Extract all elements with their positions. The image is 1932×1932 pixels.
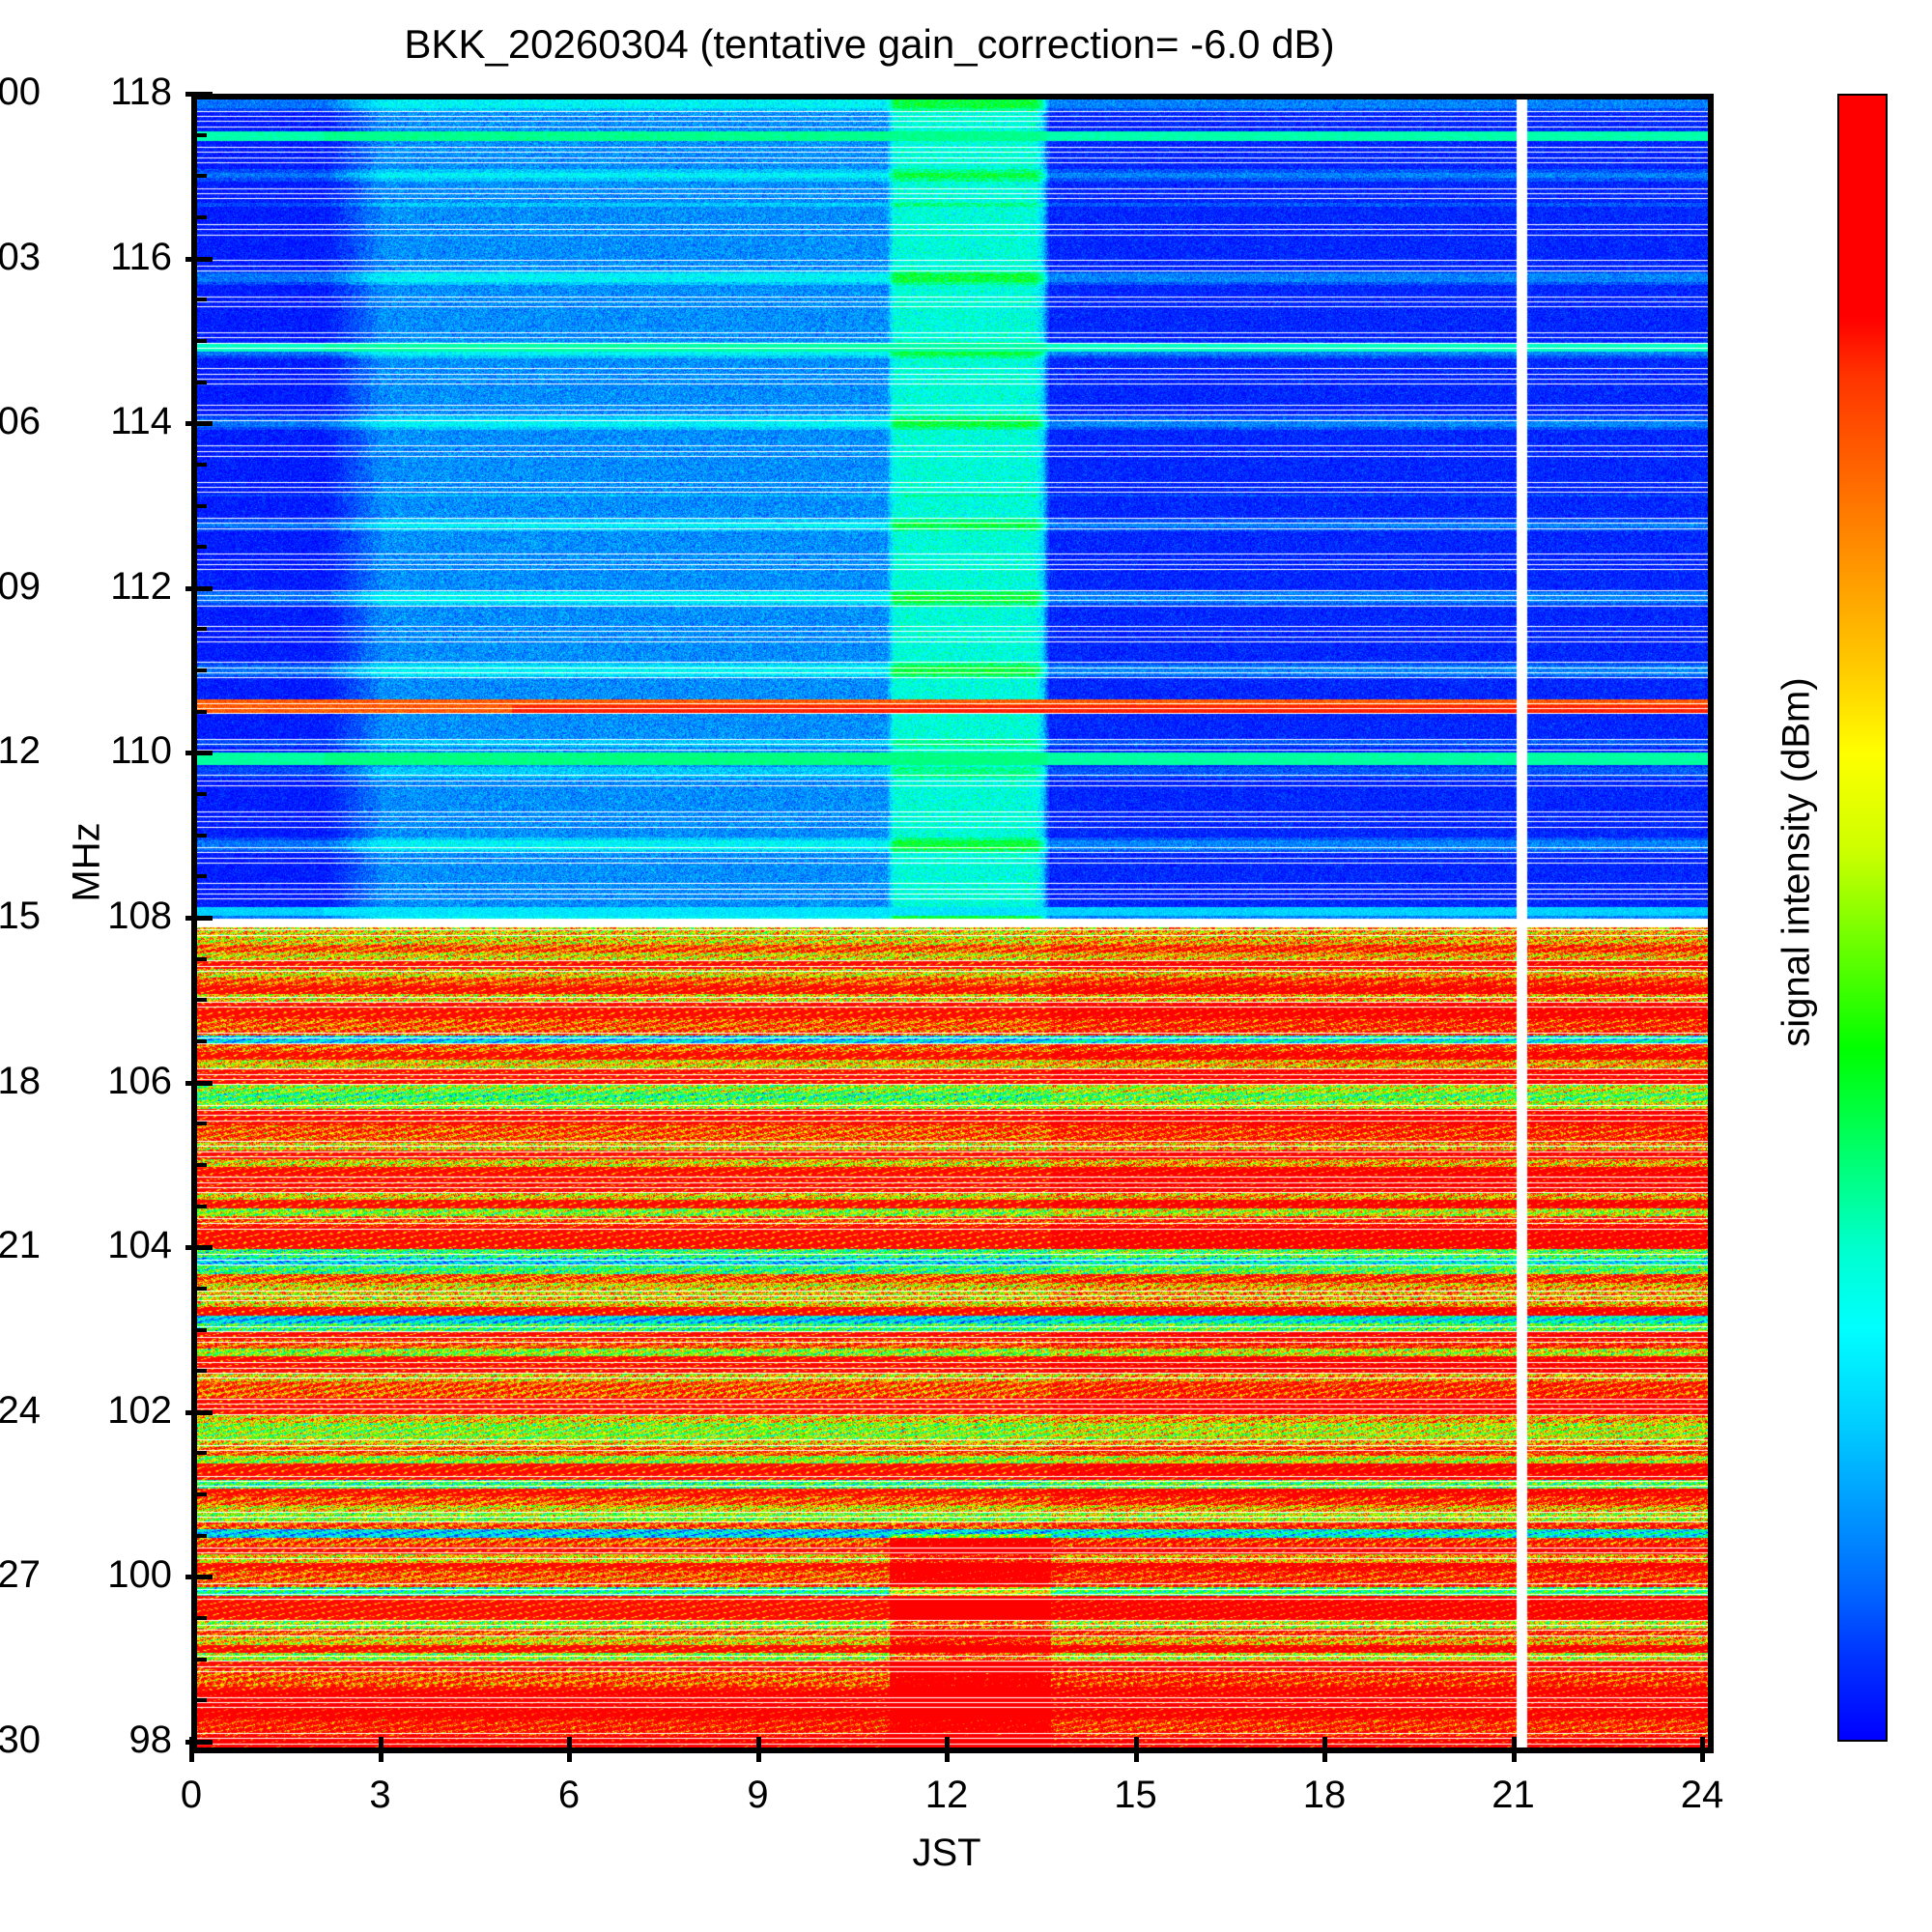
y-tick-minor [191, 174, 207, 178]
x-tick-label: 0 [124, 1774, 259, 1817]
y-tick-mark [185, 586, 213, 591]
x-axis-label: JST [191, 1832, 1702, 1875]
y-tick-minor [191, 298, 207, 301]
page-title: BKK_20260304 (tentative gain_correction=… [0, 21, 1739, 68]
x-tick-mark [379, 1737, 384, 1762]
y-axis-label: MHz [66, 718, 109, 1008]
y-tick-mark [185, 1575, 213, 1579]
x-tick-label: 3 [313, 1774, 448, 1817]
y-tick-minor [191, 1328, 207, 1332]
colorbar-tick-label: -130 [0, 1719, 41, 1762]
y-tick-minor [191, 1205, 207, 1208]
spectrogram-canvas [197, 99, 1708, 1747]
y-tick-mark [185, 1245, 213, 1250]
x-tick-label: 21 [1446, 1774, 1581, 1817]
y-tick-minor [191, 463, 207, 467]
y-tick-mark [185, 916, 213, 921]
x-tick-label: 9 [691, 1774, 826, 1817]
y-tick-minor [191, 998, 207, 1002]
y-tick-minor [191, 1163, 207, 1167]
x-tick-mark [567, 1737, 572, 1762]
y-tick-minor [191, 1287, 207, 1291]
y-tick-minor [191, 133, 207, 137]
y-tick-minor [191, 339, 207, 343]
y-tick-minor [191, 215, 207, 219]
colorbar [1837, 94, 1888, 1742]
colorbar-tick-label: -118 [0, 1060, 41, 1103]
colorbar-tick-label: -127 [0, 1553, 41, 1597]
y-tick-minor [191, 1534, 207, 1538]
colorbar-tick-label: -106 [0, 400, 41, 443]
x-tick-label: 12 [879, 1774, 1014, 1817]
y-tick-minor [191, 792, 207, 796]
y-tick-minor [191, 957, 207, 961]
x-tick-mark [1512, 1737, 1517, 1762]
y-tick-mark [185, 751, 213, 755]
y-tick-minor [191, 381, 207, 384]
y-tick-minor [191, 545, 207, 549]
colorbar-tick-label: -103 [0, 236, 41, 279]
colorbar-gradient [1837, 94, 1888, 1742]
y-tick-minor [191, 1698, 207, 1702]
colorbar-tick-label: -112 [0, 729, 41, 773]
colorbar-tick-label: -121 [0, 1224, 41, 1267]
x-tick-mark [945, 1737, 950, 1762]
colorbar-tick-label: -124 [0, 1389, 41, 1433]
x-tick-label: 24 [1634, 1774, 1770, 1817]
y-tick-minor [191, 1658, 207, 1662]
y-tick-minor [191, 1122, 207, 1125]
y-tick-mark [185, 92, 213, 97]
y-tick-minor [191, 627, 207, 631]
y-tick-minor [191, 1492, 207, 1496]
y-tick-minor [191, 874, 207, 878]
plot-area [191, 94, 1714, 1753]
x-tick-mark [1134, 1737, 1139, 1762]
colorbar-tick-label: -115 [0, 895, 41, 938]
x-tick-mark [756, 1737, 761, 1762]
y-tick-minor [191, 1039, 207, 1043]
y-tick-mark [185, 257, 213, 262]
y-tick-minor [191, 1616, 207, 1620]
y-tick-mark [185, 421, 213, 426]
x-tick-label: 18 [1257, 1774, 1392, 1817]
spectrogram-figure: BKK_20260304 (tentative gain_correction=… [0, 0, 1932, 1932]
y-tick-mark [185, 1081, 213, 1086]
y-tick-minor [191, 668, 207, 672]
y-tick-minor [191, 1451, 207, 1455]
colorbar-tick-label: -109 [0, 565, 41, 609]
y-tick-minor [191, 504, 207, 508]
x-tick-mark [189, 1737, 194, 1762]
x-tick-mark [1322, 1737, 1327, 1762]
y-tick-minor [191, 710, 207, 714]
x-tick-label: 6 [501, 1774, 637, 1817]
y-tick-minor [191, 834, 207, 838]
colorbar-tick-label: -100 [0, 71, 41, 114]
y-tick-mark [185, 1410, 213, 1415]
x-tick-label: 15 [1068, 1774, 1204, 1817]
x-tick-mark [1700, 1737, 1705, 1762]
colorbar-label: signal intensity (dBm) [1776, 669, 1819, 1056]
y-tick-minor [191, 1369, 207, 1373]
